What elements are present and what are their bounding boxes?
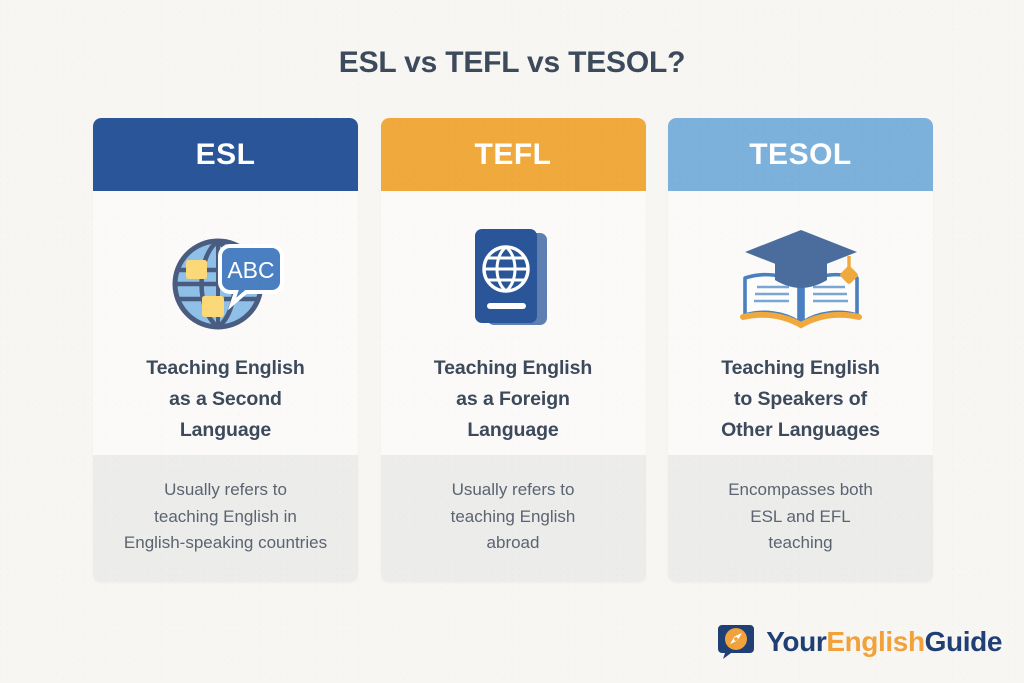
logo-part-guide: Guide — [925, 626, 1002, 657]
heading-line: Teaching English — [434, 353, 592, 384]
card-body-tesol: Teaching English to Speakers of Other La… — [668, 191, 933, 455]
footer-line: ESL and EFL — [680, 504, 921, 530]
heading-line: as a Foreign — [434, 384, 592, 415]
card-footer-esl: Usually refers to teaching English in En… — [93, 455, 358, 582]
heading-line: Teaching English — [146, 353, 304, 384]
heading-line: Teaching English — [721, 353, 880, 384]
footer-line: Usually refers to — [393, 477, 634, 503]
card-tefl: TEFL — [381, 118, 646, 582]
logo-part-english: English — [826, 626, 924, 657]
footer-line: abroad — [393, 530, 634, 556]
brand-logo-text: YourEnglishGuide — [766, 626, 1002, 658]
heading-line: to Speakers of — [721, 384, 880, 415]
speech-bubble-label: ABC — [227, 257, 274, 283]
speech-bubble-compass-icon — [717, 623, 755, 661]
card-header-tefl: TEFL — [381, 118, 646, 191]
card-heading-tesol: Teaching English to Speakers of Other La… — [721, 353, 880, 445]
heading-line: Language — [434, 415, 592, 446]
heading-line: as a Second — [146, 384, 304, 415]
card-body-tefl: Teaching English as a Foreign Language — [381, 191, 646, 455]
graduation-cap-open-book-icon — [737, 215, 865, 341]
footer-line: English-speaking countries — [105, 530, 346, 556]
footer-line: Usually refers to — [105, 477, 346, 503]
brand-logo[interactable]: YourEnglishGuide — [717, 623, 1002, 661]
infographic-page: ESL vs TEFL vs TESOL? ESL — [0, 0, 1024, 683]
passport-book-globe-icon — [461, 215, 565, 341]
heading-line: Language — [146, 415, 304, 446]
card-tesol: TESOL — [668, 118, 933, 582]
card-header-tesol: TESOL — [668, 118, 933, 191]
logo-part-your: Your — [766, 626, 826, 657]
card-header-esl: ESL — [93, 118, 358, 191]
card-footer-tefl: Usually refers to teaching English abroa… — [381, 455, 646, 582]
card-esl: ESL — [93, 118, 358, 582]
card-body-esl: ABC Teaching English as a Second Languag… — [93, 191, 358, 455]
footer-line: teaching — [680, 530, 921, 556]
footer-line: Encompasses both — [680, 477, 921, 503]
card-row: ESL — [93, 118, 933, 582]
card-footer-tesol: Encompasses both ESL and EFL teaching — [668, 455, 933, 582]
heading-line: Other Languages — [721, 415, 880, 446]
page-title: ESL vs TEFL vs TESOL? — [0, 46, 1024, 80]
footer-line: teaching English in — [105, 504, 346, 530]
footer-line: teaching English — [393, 504, 634, 530]
globe-speech-bubble-abc-icon: ABC — [166, 215, 286, 341]
card-heading-esl: Teaching English as a Second Language — [146, 353, 304, 445]
card-heading-tefl: Teaching English as a Foreign Language — [434, 353, 592, 445]
